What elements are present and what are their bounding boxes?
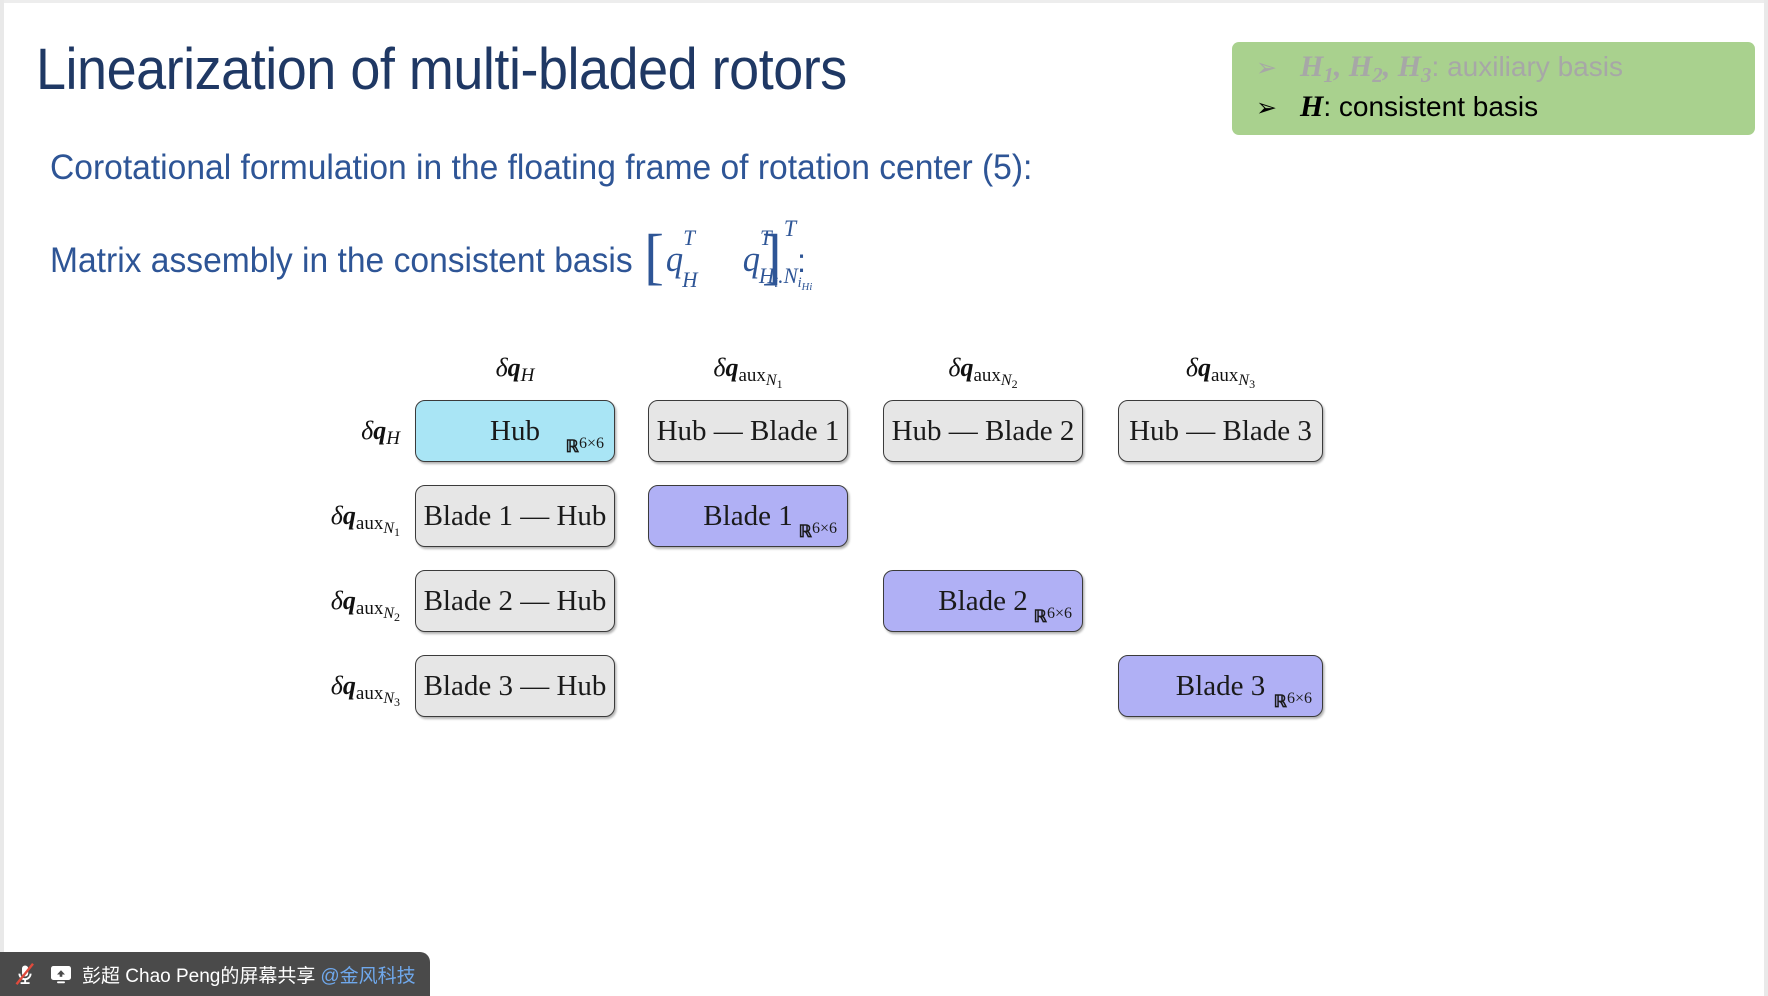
matrix-cell: Blade 2ℝ6×6 (883, 570, 1083, 632)
callout-item-text: H: consistent basis (1300, 90, 1538, 124)
matrix-cell: Blade 3 — Hub (415, 655, 615, 717)
matrix-cell-label: Blade 2 (938, 587, 1027, 616)
callout-item-auxiliary: ➢ H1, H2, H3: auxiliary basis (1250, 50, 1755, 90)
matrix-cell-label: Blade 3 — Hub (424, 672, 607, 701)
matrix-assembly-diagram: δqHδqauxN1δqauxN2δqauxN3δqHδqauxN1δqauxN… (300, 345, 1400, 745)
formula-term-qhin-base: q (743, 239, 760, 279)
formula-term-qh-base: q (666, 239, 683, 279)
matrix-cell-dimension: ℝ6×6 (566, 435, 605, 457)
matrix-column-header-3: δqauxN3 (1118, 353, 1323, 392)
callout-item-label: : consistent basis (1323, 91, 1538, 122)
matrix-cell-dimension: ℝ6×6 (1034, 605, 1073, 627)
arrow-bullet-icon: ➢ (1250, 56, 1300, 81)
matrix-row-header-1: δqauxN1 (185, 501, 400, 540)
page-title: Linearization of multi-bladed rotors (36, 36, 847, 103)
matrix-cell-label: Blade 2 — Hub (424, 587, 607, 616)
matrix-cell: Hub — Blade 2 (883, 400, 1083, 462)
matrix-cell: Blade 1ℝ6×6 (648, 485, 848, 547)
matrix-cell: Blade 1 — Hub (415, 485, 615, 547)
matrix-cell: Hub — Blade 1 (648, 400, 848, 462)
matrix-cell: Blade 2 — Hub (415, 570, 615, 632)
screen-share-handle: @金风科技 (320, 961, 415, 988)
screen-share-icon[interactable] (46, 959, 76, 989)
sub-NiH-H: H (802, 281, 810, 293)
formula-close-bracket: ]T (762, 238, 782, 276)
microphone-muted-icon[interactable] (10, 959, 40, 989)
callout-item-text: H1, H2, H3: auxiliary basis (1300, 50, 1623, 88)
matrix-cell-dimension: ℝ6×6 (799, 520, 838, 542)
matrix-cell-label: Hub — Blade 1 (657, 417, 840, 446)
formula-term-qh-sup: T (683, 225, 695, 251)
matrix-column-header-2: δqauxN2 (883, 353, 1083, 392)
callout-box: ➢ H1, H2, H3: auxiliary basis ➢ H: consi… (1232, 42, 1755, 135)
matrix-cell-label: Hub — Blade 3 (1129, 417, 1312, 446)
formula-term-qhin: q T Hi.NiHi (741, 238, 762, 280)
formula-term-qh-sub: H (682, 267, 697, 293)
screen-share-label: 彭超 Chao Peng的屏幕共享 (82, 961, 315, 988)
matrix-column-header-1: δqauxN1 (648, 353, 848, 392)
matrix-cell-dimension: ℝ6×6 (1274, 690, 1313, 712)
matrix-cell-label: Hub (490, 417, 540, 446)
slide-canvas: Linearization of multi-bladed rotors ➢ H… (0, 0, 1768, 996)
arrow-bullet-icon: ➢ (1250, 96, 1300, 121)
matrix-row-header-2: δqauxN2 (185, 586, 400, 625)
matrix-row-header-3: δqauxN3 (185, 671, 400, 710)
sub-NiH: Hi (802, 281, 813, 293)
matrix-row-header-0: δqH (185, 416, 400, 450)
sub-N-index: iHi (798, 275, 813, 291)
matrix-cell: Hub — Blade 3 (1118, 400, 1323, 462)
callout-item-label: : auxiliary basis (1432, 51, 1623, 82)
matrix-cell: Blade 3ℝ6×6 (1118, 655, 1323, 717)
body-line-corotational: Corotational formulation in the floating… (50, 148, 1032, 188)
screen-share-taskbar[interactable]: 彭超 Chao Peng的屏幕共享 @金风科技 (0, 952, 430, 996)
callout-item-consistent: ➢ H: consistent basis (1250, 90, 1755, 130)
consistent-basis-formula: [ q T H q T Hi.NiHi ]T (644, 238, 782, 280)
matrix-cell-label: Blade 1 — Hub (424, 502, 607, 531)
sub-NiH-i: i (809, 281, 812, 293)
window-edge-right (1764, 0, 1768, 996)
matrix-column-header-0: δqH (415, 353, 615, 387)
formula-open-bracket: [ (644, 238, 664, 276)
matrix-cell-label: Blade 3 (1176, 672, 1265, 701)
matrix-cell-label: Blade 1 (703, 502, 792, 531)
formula-close-superscript: T (784, 222, 796, 236)
window-edge-left (0, 0, 4, 996)
matrix-cell-label: Hub — Blade 2 (892, 417, 1075, 446)
body-line-matrix-assembly: Matrix assembly in the consistent basis … (50, 240, 806, 282)
body-line-matrix-assembly-text: Matrix assembly in the consistent basis (50, 241, 633, 281)
window-edge-top (0, 0, 1768, 3)
formula-close-bracket-glyph: ] (762, 223, 782, 291)
matrix-cell: Hubℝ6×6 (415, 400, 615, 462)
formula-term-qh: q T H (664, 238, 685, 280)
sub-N: N (784, 263, 798, 288)
